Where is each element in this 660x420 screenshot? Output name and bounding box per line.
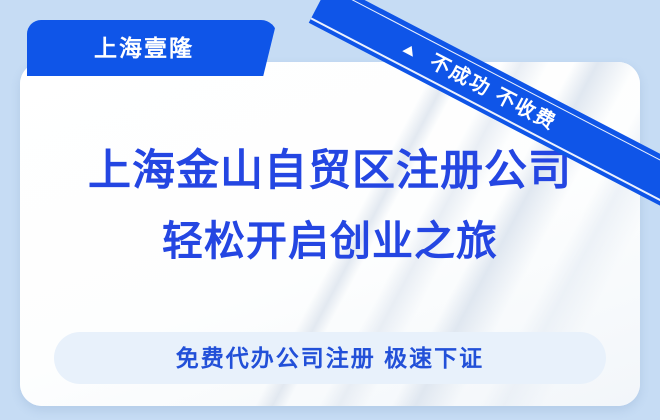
headline-block: 上海金山自贸区注册公司 轻松开启创业之旅	[20, 150, 640, 262]
promo-poster: 上海金山自贸区注册公司 轻松开启创业之旅 免费代办公司注册 极速下证 上海壹隆 …	[0, 0, 660, 420]
cta-pill[interactable]: 免费代办公司注册 极速下证	[54, 332, 606, 384]
triangle-up-icon	[402, 43, 417, 57]
brand-tab-label: 上海壹隆	[94, 37, 194, 60]
headline-line-1: 上海金山自贸区注册公司	[20, 150, 640, 193]
cta-pill-label: 免费代办公司注册 极速下证	[176, 347, 484, 370]
headline-line-2: 轻松开启创业之旅	[20, 221, 640, 262]
brand-tab[interactable]: 上海壹隆	[27, 20, 277, 76]
